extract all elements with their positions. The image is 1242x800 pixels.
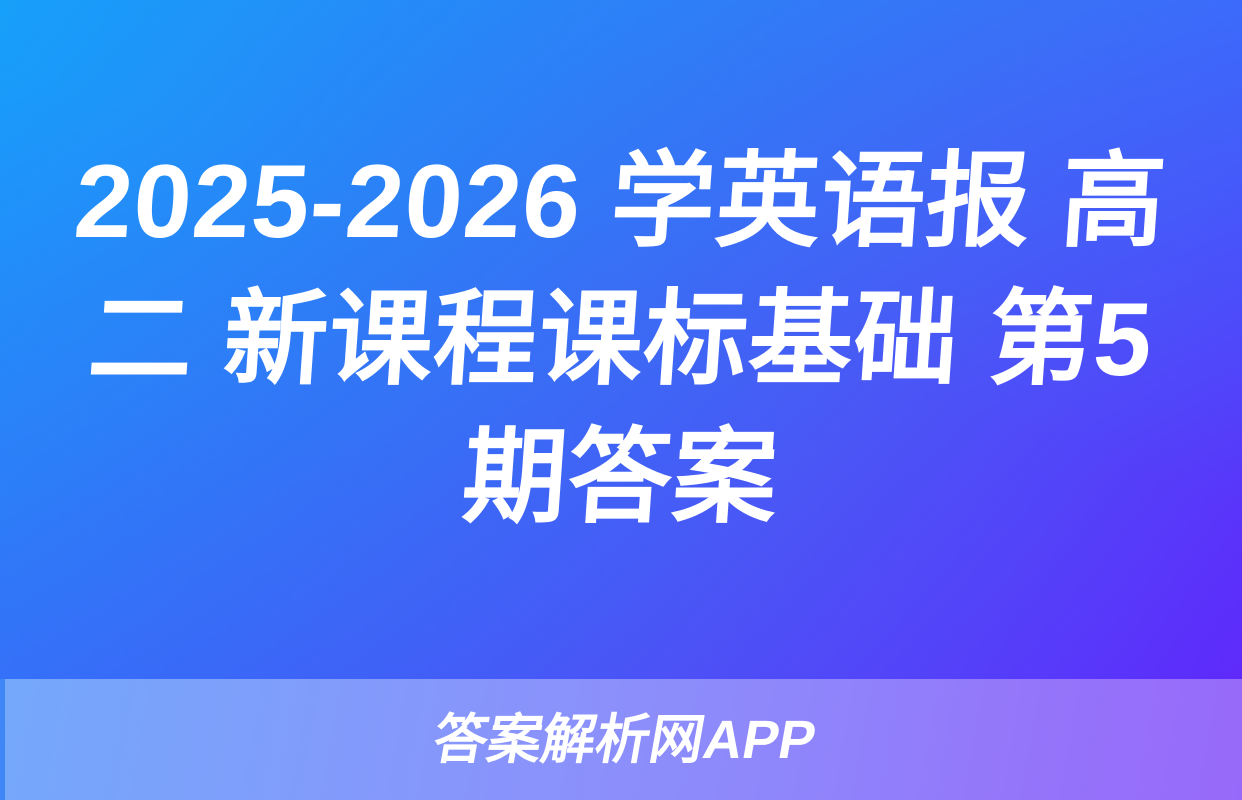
watermark-container: 答案解析网APP — [4, 710, 1242, 770]
title-line-1: 2025-2026 学英语报 高 — [71, 133, 1172, 271]
footer-watermark-band: 答案解析网APP — [0, 679, 1242, 800]
hero-gradient-panel: 2025-2026 学英语报 高 二 新课程课标基础 第5 期答案 — [0, 0, 1242, 679]
share-card: 2025-2026 学英语报 高 二 新课程课标基础 第5 期答案 答案解析网A… — [0, 0, 1242, 800]
title-line-2: 二 新课程课标基础 第5 — [84, 271, 1157, 409]
app-watermark-label: 答案解析网APP — [429, 710, 821, 770]
title-line-3: 期答案 — [459, 409, 784, 547]
hero-title-block: 2025-2026 学英语报 高 二 新课程课标基础 第5 期答案 — [0, 0, 1242, 679]
